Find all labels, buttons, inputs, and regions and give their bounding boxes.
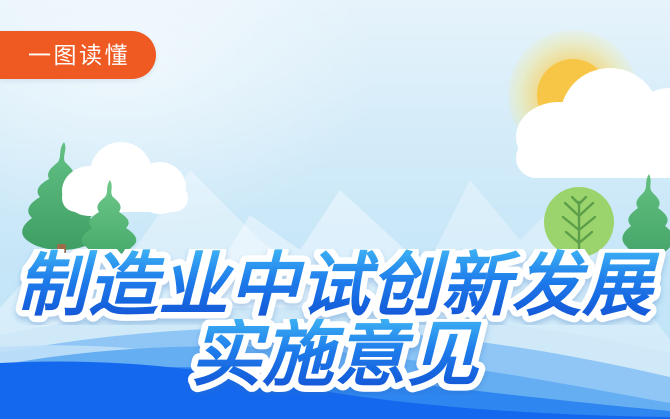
title-line-2-fill: 实施意见 [190,319,482,395]
title-line-1: 制造业中试创新发展 制造业中试创新发展 [0,249,670,325]
poster-title: 制造业中试创新发展 制造业中试创新发展 实施意见 实施意见 [0,249,670,395]
read-in-one-picture-badge[interactable]: 一图读懂 [0,31,156,79]
title-line-1-fill: 制造业中试创新发展 [17,249,660,324]
title-line-2: 实施意见 实施意见 [0,319,670,395]
infographic-poster: 一图读懂 制造业中试创新发展 制造业中试创新发展 [0,0,670,419]
cloud-right-icon [516,60,670,170]
badge-label: 一图读懂 [28,44,130,67]
